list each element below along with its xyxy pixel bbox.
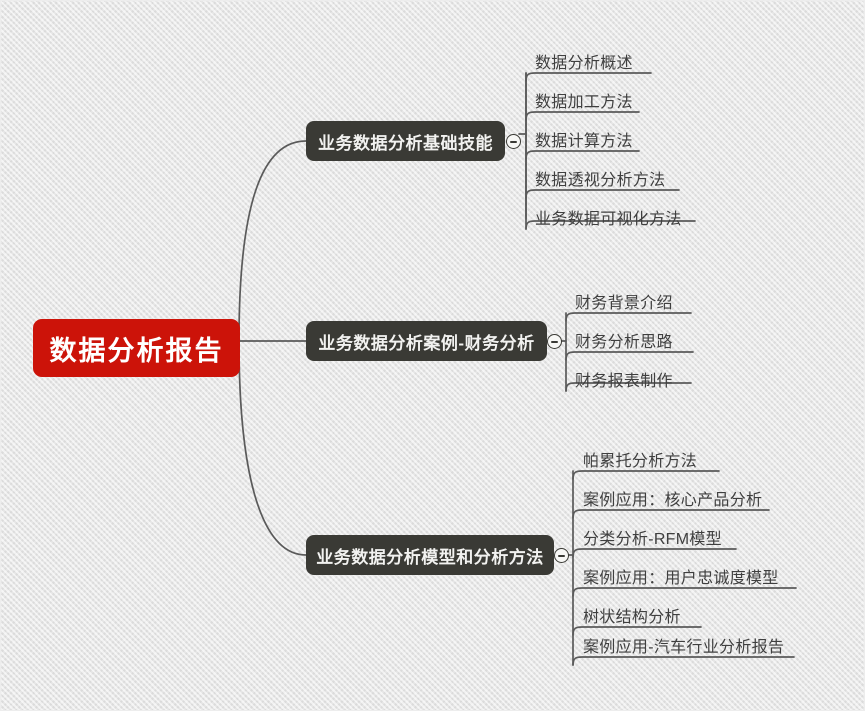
leaf-label-3-4[interactable]: 案例应用：用户忠诚度模型 bbox=[583, 564, 779, 588]
collapse-minus-icon-branch-1[interactable] bbox=[506, 134, 521, 149]
leaf-text: 分类分析-RFM模型 bbox=[583, 531, 722, 548]
mindmap-canvas[interactable]: 数据分析报告 业务数据分析基础技能 数据分析概述 数据加工方法 数据计算方法 数… bbox=[0, 0, 865, 711]
collapse-minus-icon-branch-2[interactable] bbox=[547, 334, 562, 349]
leaf-text: 案例应用：核心产品分析 bbox=[583, 492, 762, 509]
root-node-label: 数据分析报告 bbox=[50, 329, 224, 368]
leaf-text: 案例应用：用户忠诚度模型 bbox=[583, 570, 779, 587]
leaf-label-3-2[interactable]: 案例应用：核心产品分析 bbox=[583, 486, 762, 510]
collapse-minus-icon-branch-3[interactable] bbox=[554, 548, 569, 563]
leaf-text: 数据加工方法 bbox=[535, 94, 633, 111]
leaf-text: 树状结构分析 bbox=[583, 609, 681, 626]
leaf-label-2-3[interactable]: 财务报表制作 bbox=[575, 367, 673, 391]
leaf-label-3-5[interactable]: 树状结构分析 bbox=[583, 603, 681, 627]
root-node[interactable]: 数据分析报告 bbox=[33, 319, 240, 377]
leaf-label-1-2[interactable]: 数据加工方法 bbox=[535, 88, 633, 112]
leaf-label-1-1[interactable]: 数据分析概述 bbox=[535, 49, 633, 73]
leaf-label-2-2[interactable]: 财务分析思路 bbox=[575, 328, 673, 352]
leaf-text: 数据计算方法 bbox=[535, 133, 633, 150]
branch-node-2-label: 业务数据分析案例-财务分析 bbox=[318, 329, 534, 354]
leaf-label-3-1[interactable]: 帕累托分析方法 bbox=[583, 447, 697, 471]
leaf-text: 财务分析思路 bbox=[575, 334, 673, 351]
leaf-label-3-6[interactable]: 案例应用-汽车行业分析报告 bbox=[583, 633, 784, 657]
leaf-text: 数据透视分析方法 bbox=[535, 172, 665, 189]
branch-node-3-label: 业务数据分析模型和分析方法 bbox=[316, 543, 544, 568]
leaf-text: 案例应用-汽车行业分析报告 bbox=[583, 639, 784, 656]
leaf-label-2-1[interactable]: 财务背景介绍 bbox=[575, 289, 673, 313]
branch-node-1-label: 业务数据分析基础技能 bbox=[318, 129, 493, 154]
branch-node-1[interactable]: 业务数据分析基础技能 bbox=[306, 121, 505, 161]
leaf-label-1-5[interactable]: 业务数据可视化方法 bbox=[535, 205, 682, 229]
leaf-label-3-3[interactable]: 分类分析-RFM模型 bbox=[583, 525, 722, 549]
branch-node-3[interactable]: 业务数据分析模型和分析方法 bbox=[306, 535, 554, 575]
leaf-label-1-3[interactable]: 数据计算方法 bbox=[535, 127, 633, 151]
branch-node-2[interactable]: 业务数据分析案例-财务分析 bbox=[306, 321, 547, 361]
leaf-text: 财务报表制作 bbox=[575, 373, 673, 390]
leaf-text: 业务数据可视化方法 bbox=[535, 211, 682, 228]
leaf-text: 数据分析概述 bbox=[535, 55, 633, 72]
leaf-text: 财务背景介绍 bbox=[575, 295, 673, 312]
leaf-text: 帕累托分析方法 bbox=[583, 453, 697, 470]
leaf-label-1-4[interactable]: 数据透视分析方法 bbox=[535, 166, 665, 190]
